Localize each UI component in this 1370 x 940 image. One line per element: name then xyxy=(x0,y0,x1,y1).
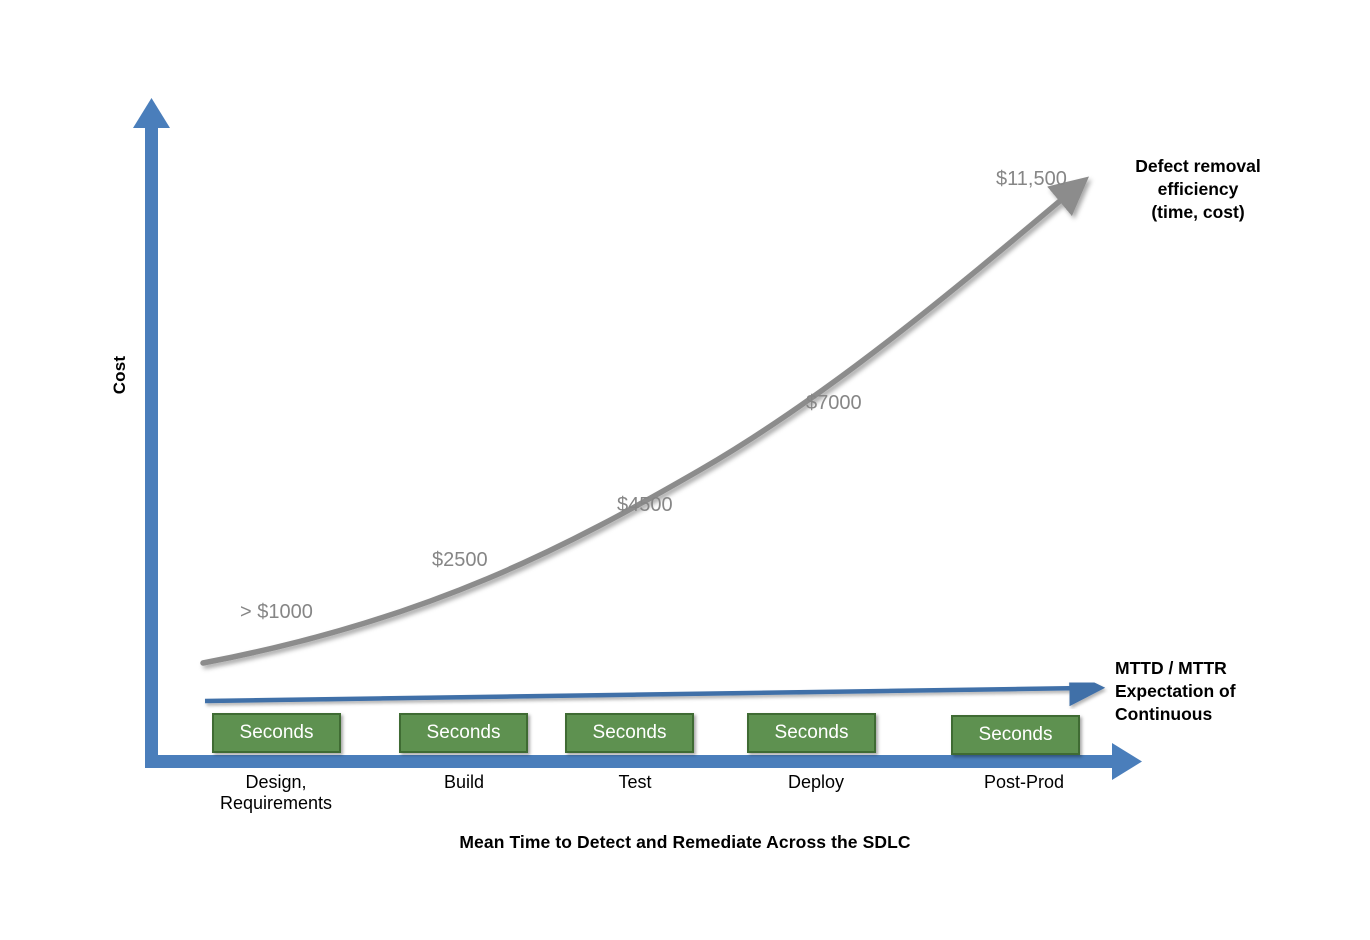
cost-curve-path xyxy=(203,190,1073,663)
defect-removal-annotation: Defect removal efficiency (time, cost) xyxy=(1118,155,1278,224)
seconds-chip-test-label: Seconds xyxy=(593,722,667,744)
x-axis-label-postprod: Post-Prod xyxy=(934,772,1114,793)
x-axis-label-test: Test xyxy=(545,772,725,793)
cost-label-test: $4500 xyxy=(617,494,673,517)
x-axis-label-build: Build xyxy=(374,772,554,793)
mttd-line-2: Expectation of xyxy=(1115,680,1300,703)
x-axis-label-design: Design, Requirements xyxy=(186,772,366,814)
x-axis-label-deploy: Deploy xyxy=(726,772,906,793)
chart-caption: Mean Time to Detect and Remediate Across… xyxy=(0,832,1370,853)
mttd-line-3: Continuous xyxy=(1115,703,1300,726)
cost-label-design: > $1000 xyxy=(240,601,313,624)
seconds-chip-postprod-label: Seconds xyxy=(979,724,1053,746)
cost-label-postprod: $11,500 xyxy=(996,168,1067,191)
seconds-chip-deploy[interactable]: Seconds xyxy=(747,713,876,753)
defect-removal-line-1: Defect removal xyxy=(1118,155,1278,178)
seconds-chip-deploy-label: Seconds xyxy=(775,722,849,744)
seconds-chip-build[interactable]: Seconds xyxy=(399,713,528,753)
seconds-chip-design[interactable]: Seconds xyxy=(212,713,341,753)
defect-removal-line-3: (time, cost) xyxy=(1118,201,1278,224)
seconds-chip-build-label: Seconds xyxy=(427,722,501,744)
defect-removal-line-2: efficiency xyxy=(1118,178,1278,201)
cost-label-build: $2500 xyxy=(432,549,488,572)
chart-canvas: Cost Defect removal efficiency (time, co… xyxy=(0,0,1370,940)
seconds-chip-design-label: Seconds xyxy=(240,722,314,744)
y-axis-label: Cost xyxy=(110,340,130,410)
seconds-chip-postprod[interactable]: Seconds xyxy=(951,715,1080,755)
y-axis-arrow xyxy=(133,98,170,768)
mttd-line-1: MTTD / MTTR xyxy=(1115,657,1300,680)
mttd-mttr-annotation: MTTD / MTTR Expectation of Continuous xyxy=(1115,657,1300,726)
seconds-chip-test[interactable]: Seconds xyxy=(565,713,694,753)
mttd-arrow-path xyxy=(205,688,1085,701)
cost-label-deploy: $7000 xyxy=(806,392,862,415)
